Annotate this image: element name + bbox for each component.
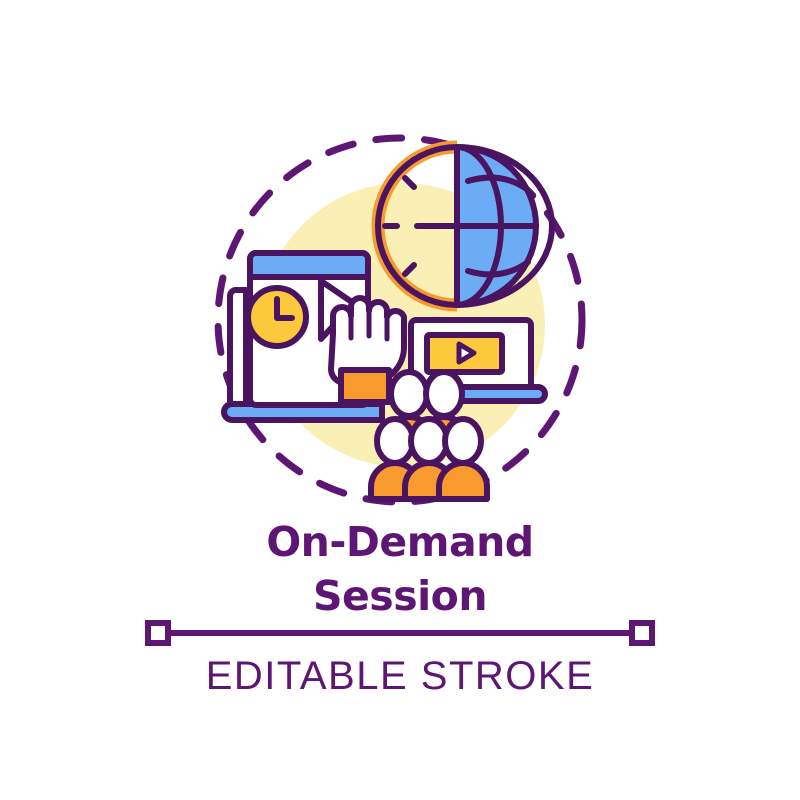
audience-front-row <box>371 419 487 499</box>
audience-head-front-2 <box>411 419 447 463</box>
audience-head-back-2 <box>426 372 462 416</box>
monitor-title-bar <box>250 253 368 277</box>
audience-head-front-1 <box>377 419 413 463</box>
audience-head-back-1 <box>391 372 427 416</box>
audience-body-front-3 <box>439 463 487 499</box>
editable-stroke-label: EDITABLE STROKE <box>0 654 800 699</box>
divider-svg <box>0 619 800 647</box>
audience-head-front-3 <box>445 419 481 463</box>
hand-sleeve-cuff <box>341 370 389 402</box>
concept-title-line-2: Session <box>0 569 800 623</box>
divider-handle-left[interactable] <box>148 623 168 643</box>
concept-title-line-1: On-Demand <box>0 515 800 569</box>
divider-handle-right[interactable] <box>632 623 652 643</box>
editable-stroke-divider <box>0 619 800 647</box>
concept-icon-canvas: On-Demand Session EDITABLE STROKE <box>0 0 800 800</box>
concept-caption: On-Demand Session <box>0 515 800 623</box>
